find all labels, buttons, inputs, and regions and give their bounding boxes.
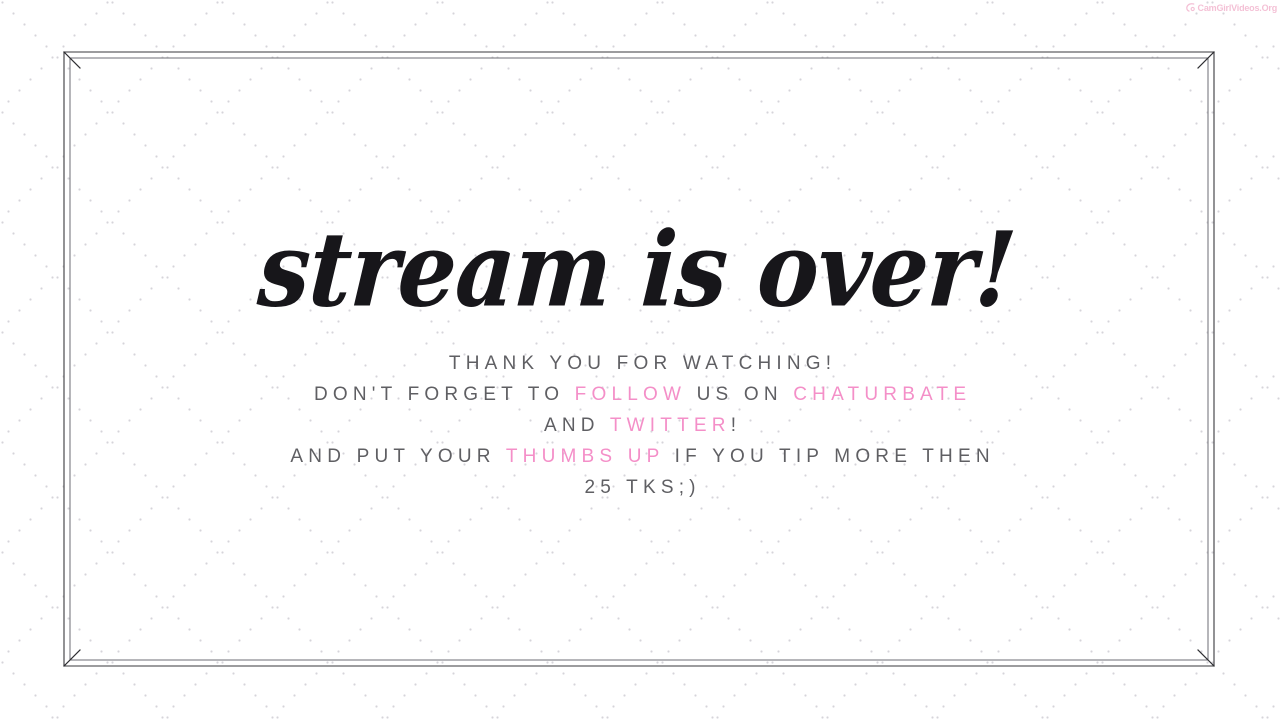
line-twitter-segment-2: ! — [731, 415, 741, 436]
line-twitter-segment-1: TWITTER — [610, 415, 731, 436]
message-line-thanks: THANK YOU FOR WATCHING! — [0, 348, 1280, 379]
line-follow-segment-0: DON'T FORGET TO — [314, 384, 575, 405]
line-follow-segment-3: CHATURBATE — [793, 384, 971, 405]
line-thanks-segment-0: THANK YOU FOR WATCHING! — [449, 353, 836, 374]
watermark-text: CamGirlVideos.Org — [1198, 3, 1277, 13]
line-twitter-segment-0: AND — [544, 415, 610, 436]
camgirlvideos-logo-icon — [1185, 2, 1196, 13]
message-line-thumbs: AND PUT YOUR THUMBS UP IF YOU TIP MORE T… — [0, 441, 1280, 472]
message-line-follow: DON'T FORGET TO FOLLOW US ON CHATURBATE — [0, 379, 1280, 410]
line-thumbs-segment-0: AND PUT YOUR — [290, 446, 505, 467]
line-thumbs-segment-2: IF YOU TIP MORE THEN — [664, 446, 995, 467]
slide-canvas: stream is over! THANK YOU FOR WATCHING! … — [0, 0, 1280, 720]
line-tks-segment-0: 25 TKS;) — [584, 477, 700, 498]
line-follow-segment-1: FOLLOW — [575, 384, 686, 405]
slide-content: stream is over! THANK YOU FOR WATCHING! … — [0, 0, 1280, 720]
page-title: stream is over! — [0, 218, 1280, 321]
message-line-tks: 25 TKS;) — [0, 472, 1280, 503]
message-line-twitter: AND TWITTER! — [0, 410, 1280, 441]
watermark: CamGirlVideos.Org — [1185, 2, 1277, 13]
line-follow-segment-2: US ON — [686, 384, 793, 405]
message-block: THANK YOU FOR WATCHING! DON'T FORGET TO … — [0, 348, 1280, 503]
line-thumbs-segment-1: THUMBS UP — [506, 446, 664, 467]
